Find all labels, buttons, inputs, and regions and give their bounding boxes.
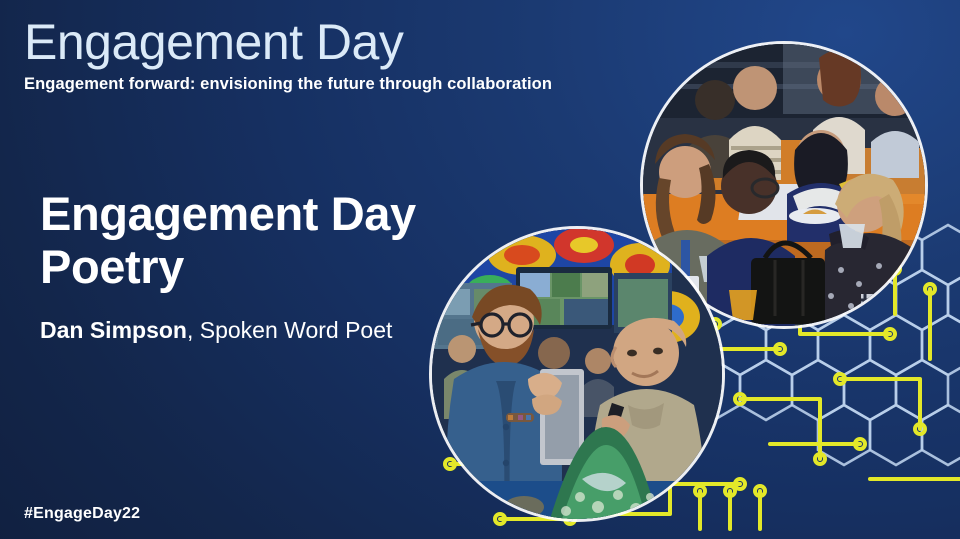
speaker-role: , Spoken Word Poet bbox=[187, 317, 392, 343]
event-hashtag: #EngageDay22 bbox=[24, 505, 140, 523]
speaker-credit: Dan Simpson, Spoken Word Poet bbox=[40, 315, 500, 346]
page-title: Engagement Day Poetry bbox=[40, 188, 500, 293]
brand-title: Engagement Day bbox=[24, 16, 624, 69]
speaker-name: Dan Simpson bbox=[40, 317, 187, 343]
slide-header: Engagement Day Engagement forward: envis… bbox=[24, 16, 624, 94]
slide-main-content: Engagement Day Poetry Dan Simpson, Spoke… bbox=[40, 188, 500, 346]
brand-subtitle: Engagement forward: envisioning the futu… bbox=[24, 75, 624, 94]
presentation-slide: Engagement Day Engagement forward: envis… bbox=[0, 0, 960, 539]
